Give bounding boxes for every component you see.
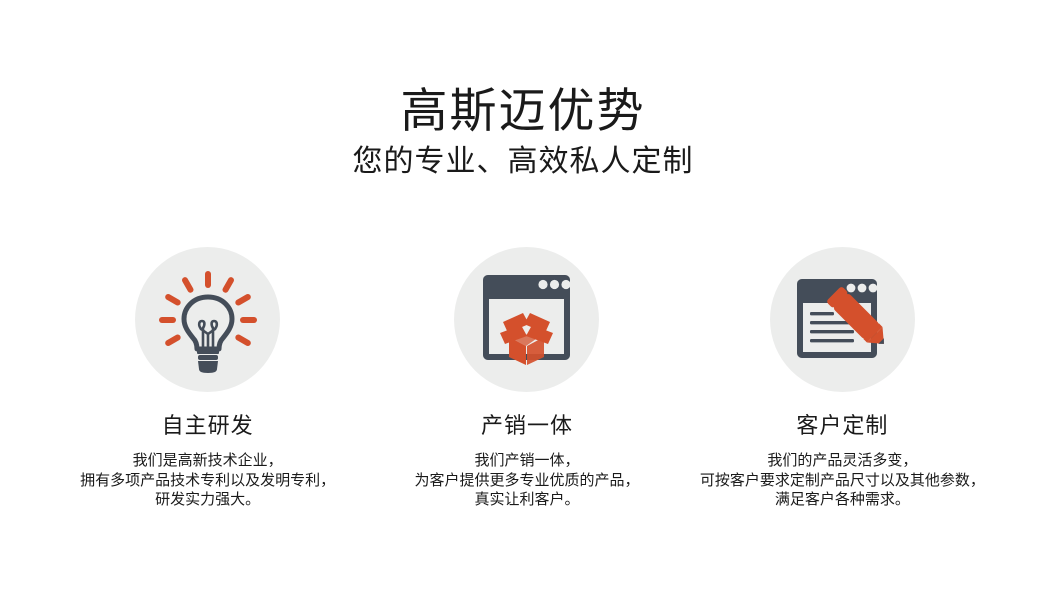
feature-title-production-sales: 产销一体 xyxy=(481,414,573,440)
feature-title-customization: 客户定制 xyxy=(796,414,888,440)
lightbulb-icon xyxy=(153,265,263,375)
feature-desc-rd: 我们是高新技术企业， 拥有多项产品技术专利以及发明专利， 研发实力强大。 xyxy=(80,451,335,510)
browser-open-box-icon xyxy=(474,267,579,372)
feature-column-rd: 自主研发 我们是高新技术企业， 拥有多项产品技术专利以及发明专利， 研发实力强大… xyxy=(50,247,365,510)
feature-column-customization: 客户定制 我们的产品灵活多变， 可按客户要求定制产品尺寸以及其他参数， 满足客户… xyxy=(685,247,1000,510)
desc-line: 研发实力强大。 xyxy=(80,490,335,510)
feature-columns: 自主研发 我们是高新技术企业， 拥有多项产品技术专利以及发明专利， 研发实力强大… xyxy=(0,247,1046,510)
desc-line: 为客户提供更多专业优质的产品， xyxy=(414,471,639,491)
desc-line: 满足客户各种需求。 xyxy=(700,490,985,510)
desc-line: 我们是高新技术企业， xyxy=(80,451,335,471)
desc-line: 可按客户要求定制产品尺寸以及其他参数， xyxy=(700,471,985,491)
icon-circle-rd xyxy=(135,247,280,392)
desc-line: 我们的产品灵活多变， xyxy=(700,451,985,471)
desc-line: 真实让利客户。 xyxy=(414,490,639,510)
icon-circle-customization xyxy=(770,247,915,392)
icon-circle-production-sales xyxy=(454,247,599,392)
page-subtitle: 您的专业、高效私人定制 xyxy=(0,142,1046,182)
feature-column-production-sales: 产销一体 我们产销一体， 为客户提供更多专业优质的产品， 真实让利客户。 xyxy=(369,247,684,510)
slide-root: 高斯迈优势 您的专业、高效私人定制 xyxy=(0,0,1046,589)
feature-desc-production-sales: 我们产销一体， 为客户提供更多专业优质的产品， 真实让利客户。 xyxy=(414,451,639,510)
desc-line: 我们产销一体， xyxy=(414,451,639,471)
slide-header: 高斯迈优势 您的专业、高效私人定制 xyxy=(0,86,1046,182)
feature-title-rd: 自主研发 xyxy=(162,414,254,440)
browser-pencil-edit-icon xyxy=(790,267,895,372)
page-title: 高斯迈优势 xyxy=(0,86,1046,138)
desc-line: 拥有多项产品技术专利以及发明专利， xyxy=(80,471,335,491)
feature-desc-customization: 我们的产品灵活多变， 可按客户要求定制产品尺寸以及其他参数， 满足客户各种需求。 xyxy=(700,451,985,510)
